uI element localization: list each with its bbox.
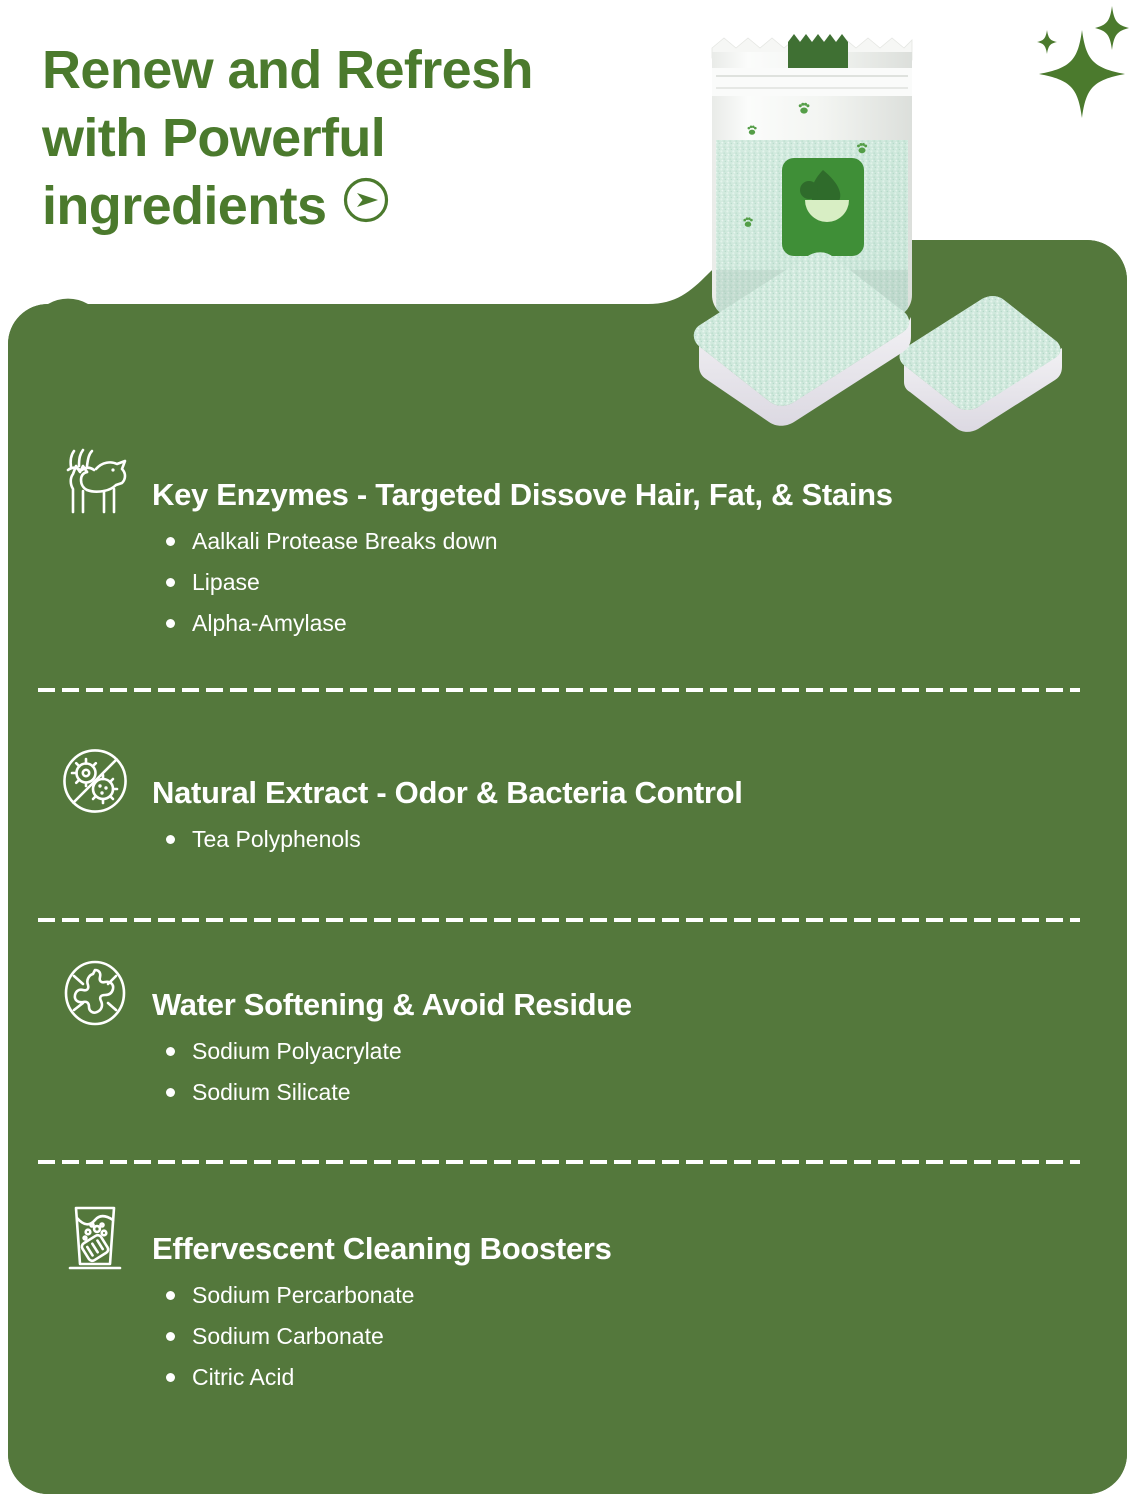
- list-item: Sodium Percarbonate: [166, 1282, 1086, 1308]
- list-item-label: Sodium Polyacrylate: [192, 1038, 402, 1064]
- list-item: Sodium Polyacrylate: [166, 1038, 1086, 1064]
- list-item: Lipase: [166, 569, 1086, 595]
- ingredient-list: Tea Polyphenols: [166, 826, 1086, 852]
- list-item: Alpha-Amylase: [166, 610, 1086, 636]
- list-item-label: Sodium Percarbonate: [192, 1282, 414, 1308]
- feature-header: Natural Extract - Odor & Bacteria Contro…: [56, 748, 1086, 820]
- no-bacteria-icon: [56, 742, 134, 820]
- bullet-icon: [166, 1291, 175, 1300]
- bullet-icon: [166, 619, 175, 628]
- list-item: Aalkali Protease Breaks down: [166, 528, 1086, 554]
- feature-header: Water Softening & Avoid Residue: [56, 960, 1086, 1032]
- bullet-icon: [166, 1373, 175, 1382]
- list-item-label: Alpha-Amylase: [192, 610, 347, 636]
- list-item-label: Aalkali Protease Breaks down: [192, 528, 498, 554]
- list-item-label: Citric Acid: [192, 1364, 294, 1390]
- arrow-right-circle-icon[interactable]: [342, 172, 390, 240]
- bullet-icon: [166, 1332, 175, 1341]
- bullet-icon: [166, 1088, 175, 1097]
- feature-title: Natural Extract - Odor & Bacteria Contro…: [152, 748, 743, 812]
- section-divider: [38, 688, 1080, 692]
- section-divider: [38, 918, 1080, 922]
- sparkles-icon: [1009, 2, 1129, 120]
- feature-section-key-enzymes: Key Enzymes - Targeted Dissove Hair, Fat…: [56, 450, 1086, 636]
- dog-shedding-hair-icon: [56, 444, 134, 522]
- list-item: Citric Acid: [166, 1364, 1086, 1390]
- list-item: Tea Polyphenols: [166, 826, 1086, 852]
- list-item: Sodium Carbonate: [166, 1323, 1086, 1349]
- list-item-label: Tea Polyphenols: [192, 826, 361, 852]
- headline-line-2: with Powerful: [42, 104, 662, 172]
- bullet-icon: [166, 1047, 175, 1056]
- feature-title: Water Softening & Avoid Residue: [152, 960, 632, 1024]
- features-content: Key Enzymes - Targeted Dissove Hair, Fat…: [8, 232, 1127, 1494]
- feature-section-effervescent-boosters: Effervescent Cleaning Boosters Sodium Pe…: [56, 1204, 1086, 1390]
- headline-line-3-row: ingredients: [42, 172, 662, 240]
- headline-line-3: ingredients: [42, 172, 326, 240]
- effervescent-glass-tablet-icon: [56, 1198, 134, 1276]
- headline-line-1: Renew and Refresh: [42, 36, 662, 104]
- feature-header: Effervescent Cleaning Boosters: [56, 1204, 1086, 1276]
- infographic-page: Renew and Refresh with Powerful ingredie…: [0, 0, 1135, 1500]
- bullet-icon: [166, 537, 175, 546]
- list-item-label: Lipase: [192, 569, 260, 595]
- feature-section-water-softening: Water Softening & Avoid Residue Sodium P…: [56, 960, 1086, 1105]
- list-item-label: Sodium Silicate: [192, 1079, 351, 1105]
- ingredient-list: Sodium Polyacrylate Sodium Silicate: [166, 1038, 1086, 1105]
- feature-section-natural-extract: Natural Extract - Odor & Bacteria Contro…: [56, 748, 1086, 852]
- ingredient-list: Sodium Percarbonate Sodium Carbonate Cit…: [166, 1282, 1086, 1390]
- feature-title: Effervescent Cleaning Boosters: [152, 1204, 612, 1268]
- section-divider: [38, 1160, 1080, 1164]
- bullet-icon: [166, 578, 175, 587]
- list-item: Sodium Silicate: [166, 1079, 1086, 1105]
- ingredient-list: Aalkali Protease Breaks down Lipase Alph…: [166, 528, 1086, 636]
- list-item-label: Sodium Carbonate: [192, 1323, 384, 1349]
- feature-title: Key Enzymes - Targeted Dissove Hair, Fat…: [152, 450, 893, 514]
- water-softening-molecule-icon: [56, 954, 134, 1032]
- feature-header: Key Enzymes - Targeted Dissove Hair, Fat…: [56, 450, 1086, 522]
- bullet-icon: [166, 835, 175, 844]
- page-title: Renew and Refresh with Powerful ingredie…: [42, 36, 662, 240]
